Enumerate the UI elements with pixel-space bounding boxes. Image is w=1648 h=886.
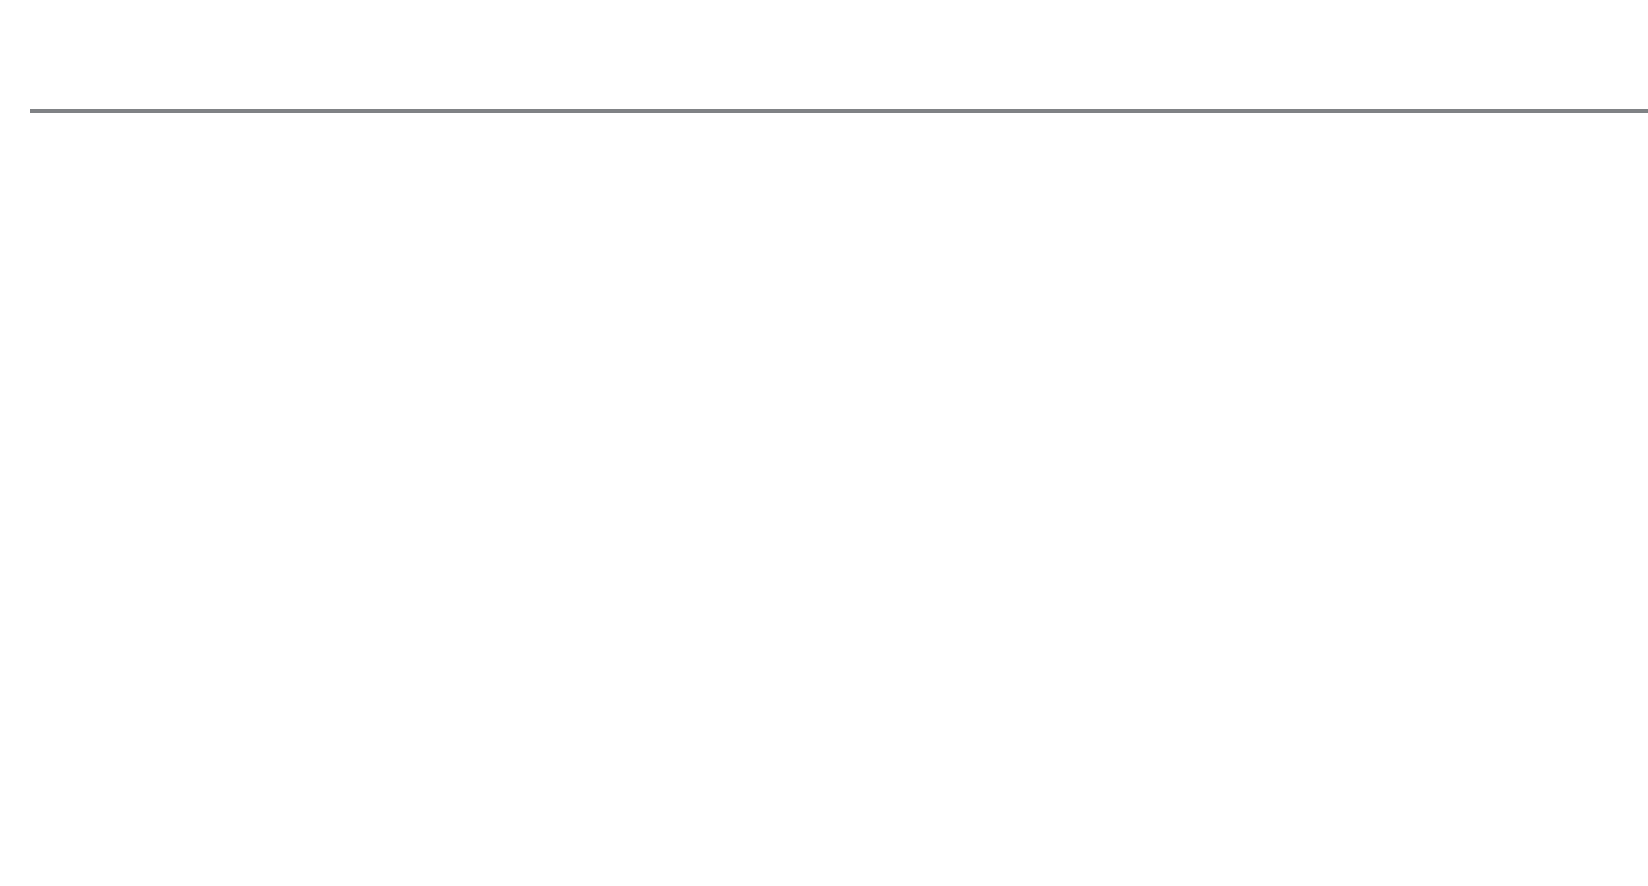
annotation-storage-note — [646, 800, 946, 886]
topology-link-layer — [0, 0, 1648, 886]
slide-canvas — [0, 0, 1648, 886]
